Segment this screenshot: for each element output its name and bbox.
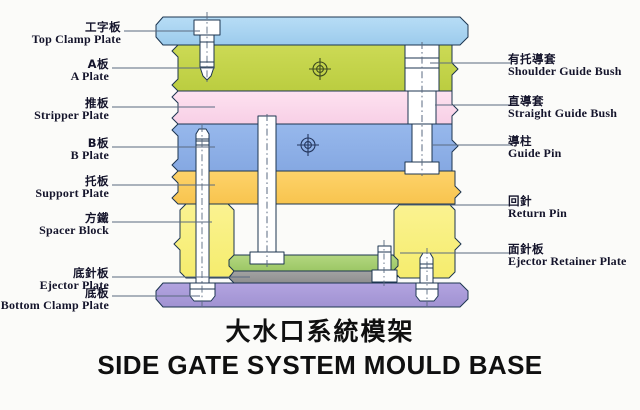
label-bottom-clamp-plate-en: Bottom Clamp Plate [1, 299, 109, 312]
mould-base-diagram: 工字板 Top Clamp Plate A板 A Plate 推板 Stripp… [0, 0, 640, 410]
plate-support [172, 171, 461, 204]
label-a-plate-en: A Plate [71, 70, 109, 83]
label-return-pin-en: Return Pin [508, 207, 567, 220]
label-b-plate-en: B Plate [71, 149, 109, 162]
label-guide-pin-en: Guide Pin [508, 147, 561, 160]
label-a-plate: A板 A Plate [71, 58, 109, 83]
label-stripper-plate: 推板 Stripper Plate [34, 97, 109, 122]
label-straight-guide-bush: 直導套 Straight Guide Bush [508, 95, 617, 120]
label-b-plate: B板 B Plate [71, 137, 109, 162]
label-bottom-clamp-plate: 底板 Bottom Clamp Plate [1, 287, 109, 312]
label-straight-guide-bush-en: Straight Guide Bush [508, 107, 617, 120]
label-guide-pin: 導柱 Guide Pin [508, 135, 561, 160]
label-stripper-plate-en: Stripper Plate [34, 109, 109, 122]
label-support-plate: 托板 Support Plate [35, 175, 109, 200]
diagram-title-en: SIDE GATE SYSTEM MOULD BASE [0, 350, 640, 381]
label-shoulder-guide-bush-en: Shoulder Guide Bush [508, 65, 622, 78]
label-shoulder-guide-bush: 有托導套 Shoulder Guide Bush [508, 53, 622, 78]
label-support-plate-en: Support Plate [35, 187, 109, 200]
diagram-title: 大水口系統模架 SIDE GATE SYSTEM MOULD BASE [0, 312, 640, 381]
label-top-clamp-plate: 工字板 Top Clamp Plate [32, 21, 121, 46]
label-spacer-block: 方鐵 Spacer Block [39, 212, 109, 237]
label-top-clamp-plate-en: Top Clamp Plate [32, 33, 121, 46]
label-ejector-retainer-plate: 面針板 Ejector Retainer Plate [508, 243, 627, 268]
label-spacer-block-en: Spacer Block [39, 224, 109, 237]
diagram-title-cn: 大水口系統模架 [0, 312, 640, 348]
label-return-pin: 回針 Return Pin [508, 195, 567, 220]
label-ejector-retainer-plate-en: Ejector Retainer Plate [508, 255, 627, 268]
